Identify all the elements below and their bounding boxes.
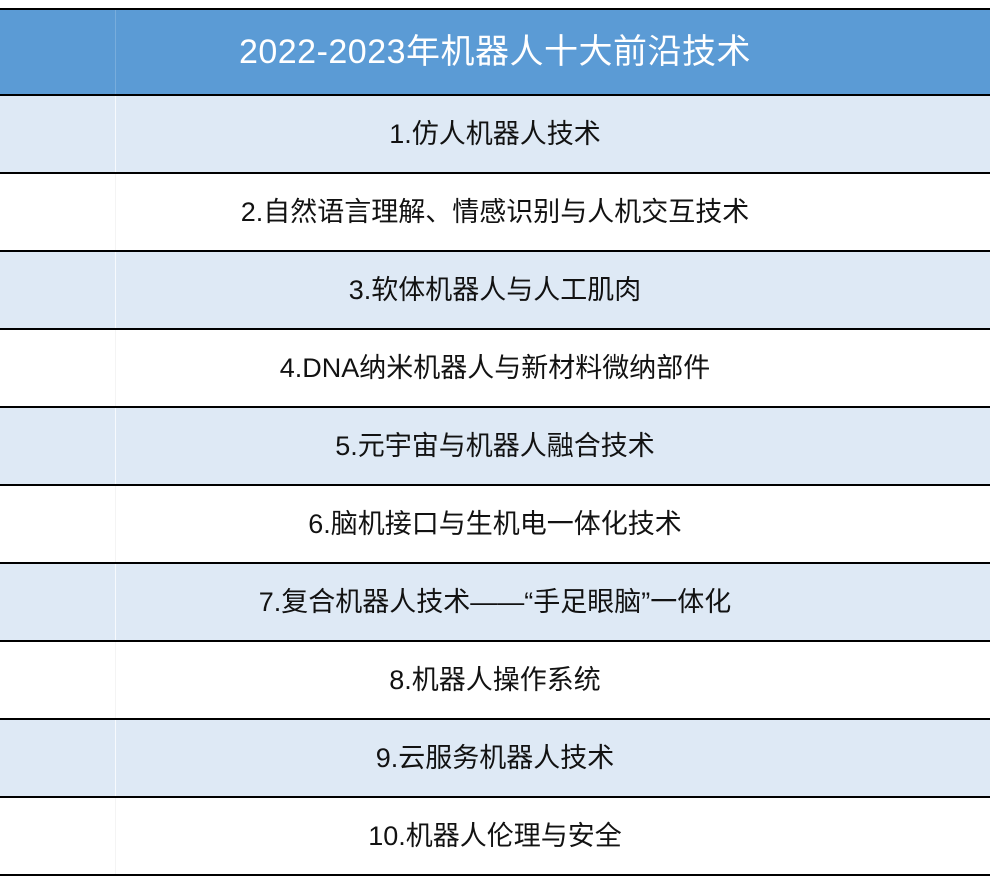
table-cell-item-10[interactable]: 10.机器人伦理与安全	[0, 797, 990, 875]
column-divider	[115, 174, 116, 250]
table-row[interactable]: 10.机器人伦理与安全	[0, 797, 990, 875]
table-cell-item-9[interactable]: 9.云服务机器人技术	[0, 719, 990, 797]
list-item-label: 8.机器人操作系统	[389, 667, 601, 694]
list-item-label: 10.机器人伦理与安全	[368, 823, 622, 850]
table-header-row: 2022-2023年机器人十大前沿技术	[0, 9, 990, 95]
table-cell-item-3[interactable]: 3.软体机器人与人工肌肉	[0, 251, 990, 329]
slide-canvas: 2022-2023年机器人十大前沿技术 1.仿人机器人技术 2.自然语言理解、情	[0, 0, 1000, 860]
table-header-cell: 2022-2023年机器人十大前沿技术	[0, 9, 990, 95]
column-divider	[115, 96, 116, 172]
list-item-label: 1.仿人机器人技术	[389, 121, 601, 148]
column-divider	[115, 564, 116, 640]
column-divider	[115, 408, 116, 484]
top-ten-robotics-technologies-table: 2022-2023年机器人十大前沿技术 1.仿人机器人技术 2.自然语言理解、情	[0, 8, 990, 876]
table-row[interactable]: 7.复合机器人技术——“手足眼脑”一体化	[0, 563, 990, 641]
column-divider	[115, 486, 116, 562]
list-item-label: 5.元宇宙与机器人融合技术	[335, 433, 655, 460]
column-divider	[115, 720, 116, 796]
table-cell-item-8[interactable]: 8.机器人操作系统	[0, 641, 990, 719]
list-item-label: 7.复合机器人技术——“手足眼脑”一体化	[259, 589, 732, 616]
table-cell-item-2[interactable]: 2.自然语言理解、情感识别与人机交互技术	[0, 173, 990, 251]
column-divider	[115, 10, 116, 94]
table-row[interactable]: 3.软体机器人与人工肌肉	[0, 251, 990, 329]
table-row[interactable]: 4.DNA纳米机器人与新材料微纳部件	[0, 329, 990, 407]
column-divider	[115, 642, 116, 718]
table-cell-item-7[interactable]: 7.复合机器人技术——“手足眼脑”一体化	[0, 563, 990, 641]
list-item-label: 6.脑机接口与生机电一体化技术	[308, 511, 682, 538]
list-item-label: 3.软体机器人与人工肌肉	[349, 277, 642, 304]
table-row[interactable]: 1.仿人机器人技术	[0, 95, 990, 173]
list-item-label: 4.DNA纳米机器人与新材料微纳部件	[280, 355, 711, 382]
table-row[interactable]: 9.云服务机器人技术	[0, 719, 990, 797]
table-row[interactable]: 5.元宇宙与机器人融合技术	[0, 407, 990, 485]
column-divider	[115, 798, 116, 874]
column-divider	[115, 330, 116, 406]
table-cell-item-5[interactable]: 5.元宇宙与机器人融合技术	[0, 407, 990, 485]
table-title: 2022-2023年机器人十大前沿技术	[239, 35, 751, 69]
table-row[interactable]: 8.机器人操作系统	[0, 641, 990, 719]
table-cell-item-6[interactable]: 6.脑机接口与生机电一体化技术	[0, 485, 990, 563]
list-item-label: 2.自然语言理解、情感识别与人机交互技术	[241, 199, 750, 226]
table-cell-item-1[interactable]: 1.仿人机器人技术	[0, 95, 990, 173]
list-item-label: 9.云服务机器人技术	[376, 745, 615, 772]
column-divider	[115, 252, 116, 328]
table-cell-item-4[interactable]: 4.DNA纳米机器人与新材料微纳部件	[0, 329, 990, 407]
table-row[interactable]: 6.脑机接口与生机电一体化技术	[0, 485, 990, 563]
table-row[interactable]: 2.自然语言理解、情感识别与人机交互技术	[0, 173, 990, 251]
